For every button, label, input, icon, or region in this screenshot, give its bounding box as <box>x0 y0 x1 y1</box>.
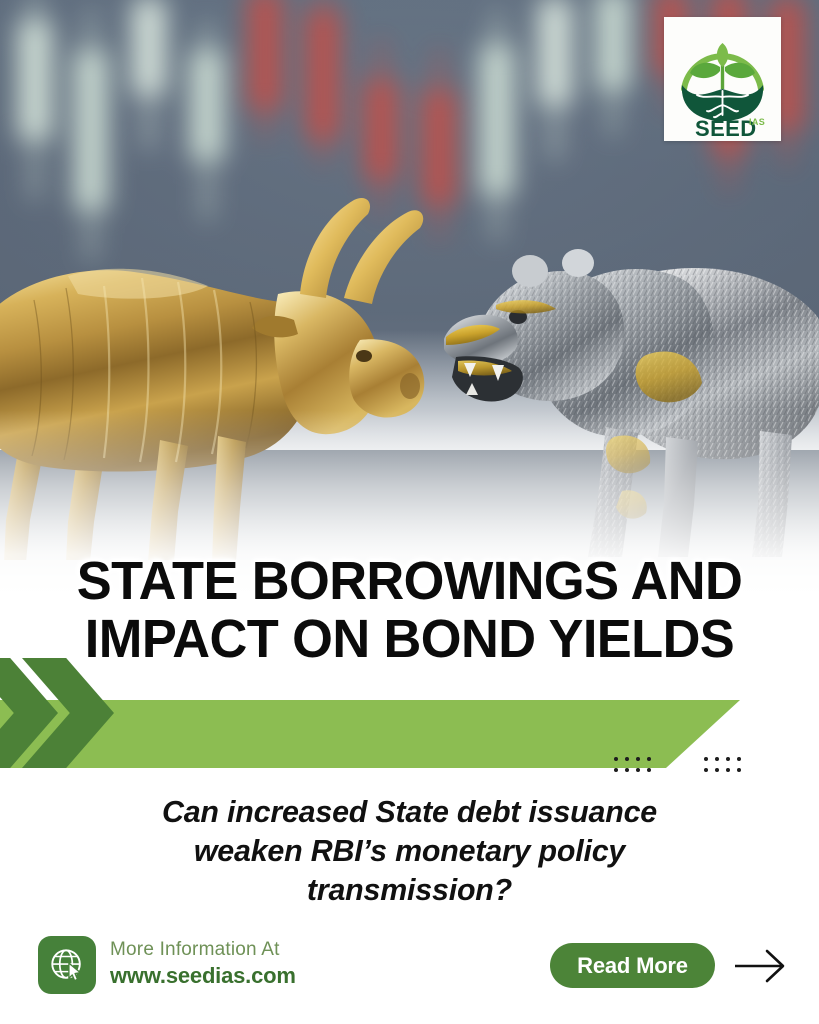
subtitle-line-1: Can increased State debt issuance <box>65 792 754 831</box>
website-url[interactable]: www.seedias.com <box>110 962 296 990</box>
dot-grid-decoration <box>614 757 658 779</box>
globe-cursor-icon[interactable] <box>38 936 96 994</box>
subtitle-line-3: transmission? <box>65 870 754 909</box>
read-more-button[interactable]: Read More <box>550 943 715 988</box>
svg-text:IAS: IAS <box>749 117 765 127</box>
subtitle-line-2: weaken RBI’s monetary policy <box>65 831 754 870</box>
more-information-label: More Information At <box>110 937 296 962</box>
social-post-poster: SEED IAS STATE BORROWINGS AND IMPACT ON … <box>0 0 819 1024</box>
website-info: More Information At www.seedias.com <box>110 937 296 990</box>
seed-ias-logo[interactable]: SEED IAS <box>664 17 781 141</box>
arrow-right-icon[interactable] <box>733 948 789 984</box>
svg-text:SEED: SEED <box>695 116 757 141</box>
title-line-2: IMPACT ON BOND YIELDS <box>12 610 806 668</box>
subtitle: Can increased State debt issuance weaken… <box>0 792 819 909</box>
green-banner <box>0 700 819 768</box>
title-line-1: STATE BORROWINGS AND <box>12 552 806 610</box>
dot-grid-decoration <box>704 757 748 779</box>
page-title: STATE BORROWINGS AND IMPACT ON BOND YIEL… <box>0 552 819 668</box>
